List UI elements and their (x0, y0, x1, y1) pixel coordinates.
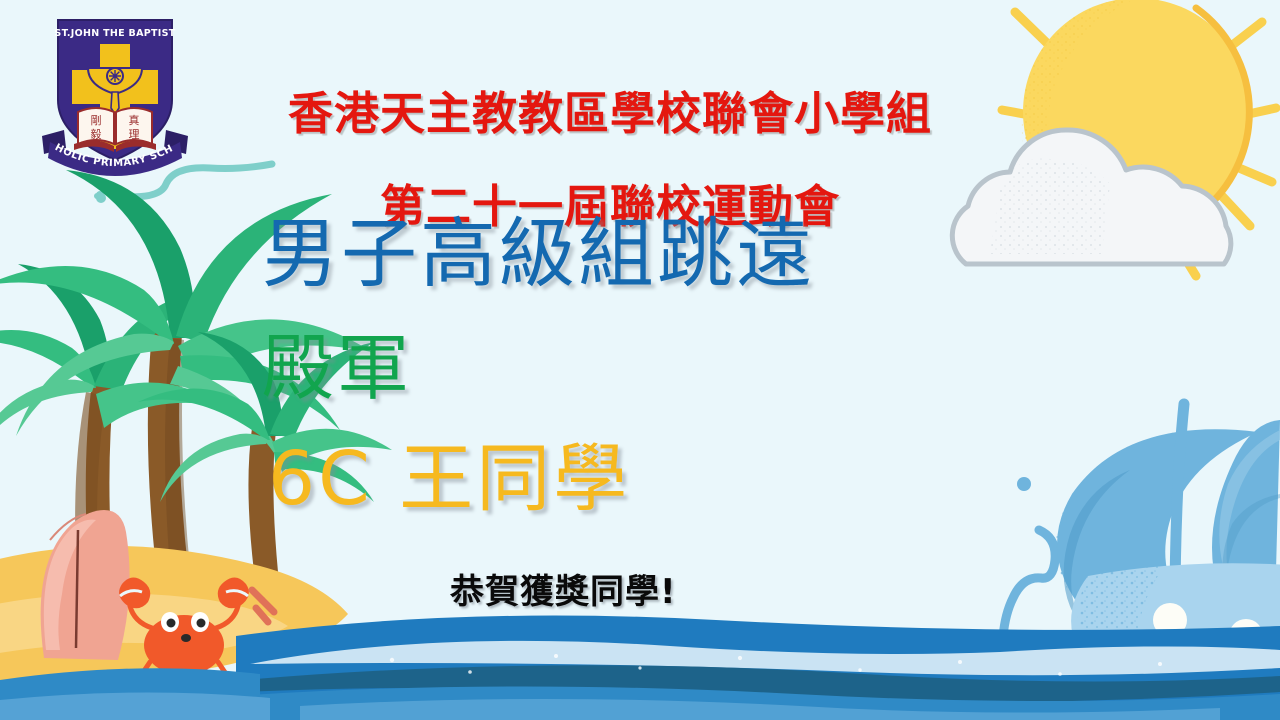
award-slide: ST.JOHN THE BAPTIST 剛 毅 真 理 CATHOLIC PRI… (0, 0, 1280, 720)
palm-fronds-left (0, 264, 222, 458)
book-right-char-1: 真 (129, 113, 140, 127)
palm-trunk-left (86, 382, 114, 560)
event-name: 男子高級組跳遠 (262, 206, 815, 302)
sailboat-icon (1002, 404, 1280, 706)
book-right-char-2: 理 (129, 128, 140, 141)
winner-name: 6C 王同學 (268, 432, 630, 526)
sand-island (0, 546, 348, 682)
sun-disc (1023, 0, 1251, 226)
book-left-char-1: 剛 (91, 114, 102, 127)
teal-dots-left (96, 191, 121, 200)
logo-top-text: ST.JOHN THE BAPTIST (54, 28, 175, 39)
crab-icon (119, 577, 274, 696)
sun-rays (1002, 12, 1276, 276)
crab-motion-lines (252, 590, 274, 622)
school-logo: ST.JOHN THE BAPTIST 剛 毅 真 理 CATHOLIC PRI… (40, 8, 190, 176)
award-rank: 殿軍 (262, 322, 412, 414)
porthole (1229, 619, 1263, 653)
water-sparkles (390, 654, 1162, 676)
palm-trunk-center (148, 332, 188, 568)
surfboard (41, 510, 130, 660)
sun-icon (1002, 0, 1276, 276)
competition-title-line-1: 香港天主教教區學校聯會小學組 (180, 86, 1040, 141)
congratulations-message: 恭賀獲獎同學! (450, 572, 677, 612)
book-left-char-2: 毅 (91, 127, 102, 141)
porthole (1153, 603, 1187, 637)
ocean-waves (0, 616, 1280, 720)
